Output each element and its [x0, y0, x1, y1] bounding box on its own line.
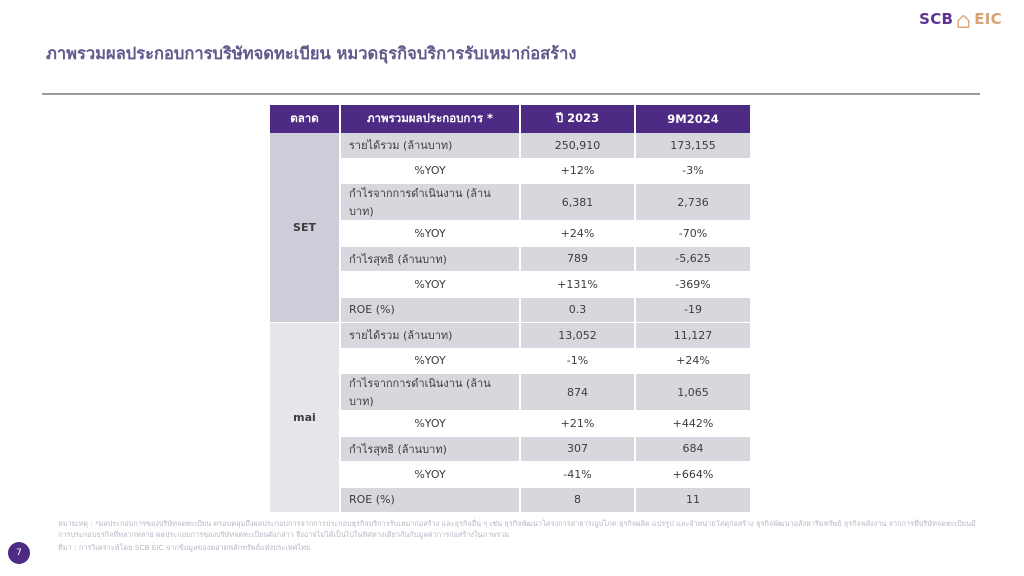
value-cell-y2023: 13,052	[520, 323, 635, 349]
table-row: %YOY+12%-3%	[270, 158, 750, 184]
value-cell-9m2024: -70%	[635, 221, 750, 247]
page-title: ภาพรวมผลประกอบการบริษัทจดทะเบียน หมวดธุร…	[46, 41, 576, 67]
col-header-y2023: ปี 2023	[520, 105, 635, 133]
logo-eic-text: EIC	[974, 10, 1002, 28]
value-cell-9m2024: 173,155	[635, 133, 750, 158]
metric-label-cell: ROE (%)	[340, 297, 520, 323]
table-row: ROE (%)811	[270, 487, 750, 513]
metric-label-cell: รายได้รวม (ล้านบาท)	[340, 133, 520, 158]
value-cell-9m2024: -3%	[635, 158, 750, 184]
metric-label-cell: ROE (%)	[340, 487, 520, 513]
metric-label-cell: %YOY	[340, 221, 520, 247]
financial-overview-table: ตลาด ภาพรวมผลประกอบการ * ปี 2023 9M2024 …	[270, 105, 750, 513]
arch-icon	[957, 13, 970, 26]
value-cell-9m2024: 2,736	[635, 184, 750, 221]
col-header-market: ตลาด	[270, 105, 340, 133]
value-cell-y2023: 0.3	[520, 297, 635, 323]
table-row: %YOY+131%-369%	[270, 272, 750, 298]
value-cell-y2023: -1%	[520, 348, 635, 374]
table-row: %YOY+24%-70%	[270, 221, 750, 247]
col-header-9m2024: 9M2024	[635, 105, 750, 133]
footnotes: หมายเหตุ : *ผลประกอบการของบริษัทจดทะเบีย…	[58, 518, 988, 553]
value-cell-y2023: +12%	[520, 158, 635, 184]
value-cell-9m2024: -369%	[635, 272, 750, 298]
value-cell-y2023: +131%	[520, 272, 635, 298]
table-body: SETรายได้รวม (ล้านบาท)250,910173,155%YOY…	[270, 133, 750, 513]
value-cell-9m2024: 11,127	[635, 323, 750, 349]
metric-label-cell: %YOY	[340, 158, 520, 184]
value-cell-y2023: -41%	[520, 462, 635, 488]
table-row: SETรายได้รวม (ล้านบาท)250,910173,155	[270, 133, 750, 158]
value-cell-y2023: 307	[520, 436, 635, 462]
footnote-note: หมายเหตุ : *ผลประกอบการของบริษัทจดทะเบีย…	[58, 518, 988, 541]
table-row: %YOY-1%+24%	[270, 348, 750, 374]
value-cell-y2023: 874	[520, 374, 635, 411]
col-header-metric: ภาพรวมผลประกอบการ *	[340, 105, 520, 133]
metric-label-cell: รายได้รวม (ล้านบาท)	[340, 323, 520, 349]
value-cell-9m2024: +442%	[635, 411, 750, 437]
table-row: maiรายได้รวม (ล้านบาท)13,05211,127	[270, 323, 750, 349]
value-cell-y2023: +21%	[520, 411, 635, 437]
metric-label-cell: กำไรสุทธิ (ล้านบาท)	[340, 246, 520, 272]
value-cell-y2023: 8	[520, 487, 635, 513]
metric-label-cell: กำไรสุทธิ (ล้านบาท)	[340, 436, 520, 462]
table-row: กำไรสุทธิ (ล้านบาท)307684	[270, 436, 750, 462]
value-cell-9m2024: 684	[635, 436, 750, 462]
market-cell: mai	[270, 323, 340, 513]
table-row: %YOY+21%+442%	[270, 411, 750, 437]
table-header: ตลาด ภาพรวมผลประกอบการ * ปี 2023 9M2024	[270, 105, 750, 133]
value-cell-9m2024: +24%	[635, 348, 750, 374]
table-row: ROE (%)0.3-19	[270, 297, 750, 323]
logo-scb-text: SCB	[919, 10, 953, 28]
scb-eic-logo: SCB EIC	[919, 10, 1002, 28]
table-row: กำไรจากการดำเนินงาน (ล้านบาท)6,3812,736	[270, 184, 750, 221]
metric-label-cell: %YOY	[340, 272, 520, 298]
page-number-badge: 7	[8, 542, 30, 564]
table-row: กำไรสุทธิ (ล้านบาท)789-5,625	[270, 246, 750, 272]
market-cell: SET	[270, 133, 340, 323]
header-divider	[42, 93, 980, 95]
metric-label-cell: กำไรจากการดำเนินงาน (ล้านบาท)	[340, 374, 520, 411]
metric-label-cell: %YOY	[340, 462, 520, 488]
table-row: กำไรจากการดำเนินงาน (ล้านบาท)8741,065	[270, 374, 750, 411]
value-cell-y2023: +24%	[520, 221, 635, 247]
table-row: %YOY-41%+664%	[270, 462, 750, 488]
value-cell-y2023: 789	[520, 246, 635, 272]
financial-overview-table-container: ตลาด ภาพรวมผลประกอบการ * ปี 2023 9M2024 …	[270, 105, 750, 513]
value-cell-y2023: 250,910	[520, 133, 635, 158]
table-header-row: ตลาด ภาพรวมผลประกอบการ * ปี 2023 9M2024	[270, 105, 750, 133]
metric-label-cell: กำไรจากการดำเนินงาน (ล้านบาท)	[340, 184, 520, 221]
value-cell-y2023: 6,381	[520, 184, 635, 221]
value-cell-9m2024: 1,065	[635, 374, 750, 411]
metric-label-cell: %YOY	[340, 348, 520, 374]
value-cell-9m2024: -19	[635, 297, 750, 323]
value-cell-9m2024: 11	[635, 487, 750, 513]
value-cell-9m2024: -5,625	[635, 246, 750, 272]
metric-label-cell: %YOY	[340, 411, 520, 437]
footnote-source: ที่มา : การวิเคราะห์โดย SCB EIC จากข้อมู…	[58, 542, 988, 553]
value-cell-9m2024: +664%	[635, 462, 750, 488]
